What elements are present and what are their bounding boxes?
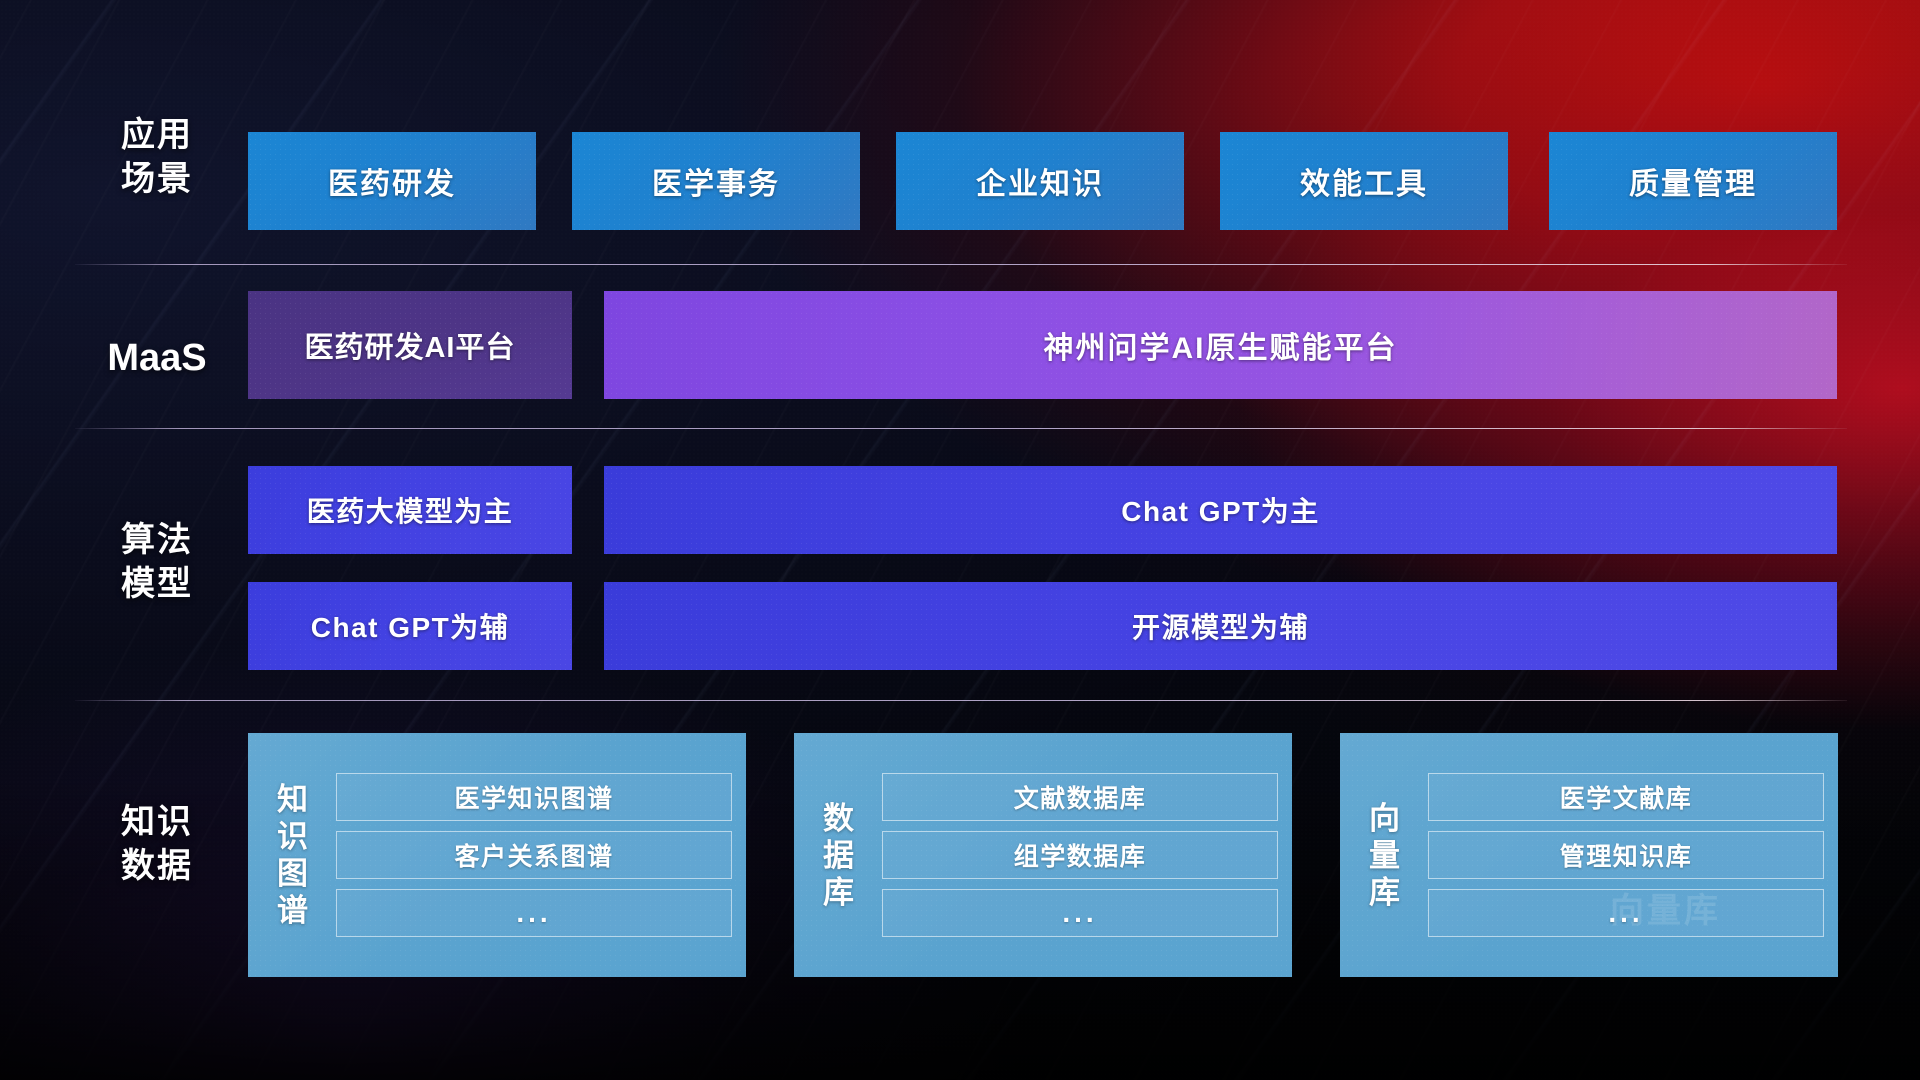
algo-tile-chatgpt-primary[interactable]: Chat GPT为主 xyxy=(604,466,1837,554)
algo-tile-label: Chat GPT为主 xyxy=(1121,490,1320,530)
knowledge-panel-item-list: 文献数据库 组学数据库 ... xyxy=(882,773,1278,937)
knowledge-panel-item-more[interactable]: ... xyxy=(882,889,1278,937)
algo-tile-label: 医药大模型为主 xyxy=(307,490,514,530)
knowledge-panel-item[interactable]: 管理知识库 xyxy=(1428,831,1824,879)
vlabel-char: 数 xyxy=(810,800,868,837)
vlabel-char: 知 xyxy=(264,781,322,818)
vlabel-char: 库 xyxy=(810,874,868,911)
scenario-tile-drug-rnd[interactable]: 医药研发 xyxy=(248,132,536,230)
architecture-diagram: 应用 场景 医药研发 医学事务 企业知识 效能工具 质量管理 MaaS 医药研发… xyxy=(0,0,1920,1080)
scenario-tile-label: 效能工具 xyxy=(1300,159,1428,203)
knowledge-panel-vertical-label: 向 量 库 xyxy=(1356,800,1414,911)
algo-tile-chatgpt-secondary[interactable]: Chat GPT为辅 xyxy=(248,582,572,670)
knowledge-panel-item[interactable]: 文献数据库 xyxy=(882,773,1278,821)
scenario-tile-quality-management[interactable]: 质量管理 xyxy=(1549,132,1837,230)
scenario-tile-label: 企业知识 xyxy=(976,159,1104,203)
knowledge-panel-item[interactable]: 组学数据库 xyxy=(882,831,1278,879)
knowledge-panel-item-more[interactable]: ... xyxy=(1428,889,1824,937)
row-label-application-scenarios: 应用 场景 xyxy=(72,113,242,201)
knowledge-panel-knowledge-graph[interactable]: 知 识 图 谱 医学知识图谱 客户关系图谱 ... xyxy=(248,733,746,977)
maas-tile-label: 医药研发AI平台 xyxy=(304,324,515,366)
scenario-tile-efficiency-tools[interactable]: 效能工具 xyxy=(1220,132,1508,230)
vlabel-char: 谱 xyxy=(264,892,322,929)
divider-after-scenarios xyxy=(75,264,1847,265)
knowledge-panel-item[interactable]: 医学知识图谱 xyxy=(336,773,732,821)
maas-platform-drug-rnd[interactable]: 医药研发AI平台 xyxy=(248,291,572,399)
knowledge-panel-item[interactable]: 医学文献库 xyxy=(1428,773,1824,821)
knowledge-panel-item[interactable]: 客户关系图谱 xyxy=(336,831,732,879)
row-label-algorithm-model: 算法 模型 xyxy=(72,518,242,606)
scenario-tile-label: 质量管理 xyxy=(1629,159,1757,203)
scenario-tile-label: 医药研发 xyxy=(328,159,456,203)
scenario-tile-label: 医学事务 xyxy=(652,159,780,203)
knowledge-panel-item-more[interactable]: ... xyxy=(336,889,732,937)
knowledge-panel-database[interactable]: 数 据 库 文献数据库 组学数据库 ... xyxy=(794,733,1292,977)
algo-tile-label: Chat GPT为辅 xyxy=(311,606,510,646)
knowledge-panel-item-list: 医学文献库 管理知识库 ... xyxy=(1428,773,1824,937)
vlabel-char: 量 xyxy=(1356,837,1414,874)
row-label-maas: MaaS xyxy=(72,336,242,380)
vlabel-char: 库 xyxy=(1356,874,1414,911)
knowledge-panel-vertical-label: 知 识 图 谱 xyxy=(264,781,322,929)
vlabel-char: 识 xyxy=(264,818,322,855)
scenario-tile-enterprise-knowledge[interactable]: 企业知识 xyxy=(896,132,1184,230)
slide-stage: 应用 场景 医药研发 医学事务 企业知识 效能工具 质量管理 MaaS 医药研发… xyxy=(0,0,1920,1080)
knowledge-panel-vector-store[interactable]: 向 量 库 医学文献库 管理知识库 ... 向量库 xyxy=(1340,733,1838,977)
maas-platform-shenzhou-wenxue[interactable]: 神州问学AI原生赋能平台 xyxy=(604,291,1837,399)
knowledge-panel-vertical-label: 数 据 库 xyxy=(810,800,868,911)
maas-tile-label: 神州问学AI原生赋能平台 xyxy=(1044,323,1398,367)
knowledge-panel-item-list: 医学知识图谱 客户关系图谱 ... xyxy=(336,773,732,937)
vlabel-char: 据 xyxy=(810,837,868,874)
divider-after-algorithm xyxy=(75,700,1847,701)
algo-tile-pharma-llm-primary[interactable]: 医药大模型为主 xyxy=(248,466,572,554)
vlabel-char: 图 xyxy=(264,855,322,892)
scenario-tile-medical-affairs[interactable]: 医学事务 xyxy=(572,132,860,230)
divider-after-maas xyxy=(75,428,1847,429)
algo-tile-opensource-secondary[interactable]: 开源模型为辅 xyxy=(604,582,1837,670)
vlabel-char: 向 xyxy=(1356,800,1414,837)
algo-tile-label: 开源模型为辅 xyxy=(1132,606,1309,646)
row-label-knowledge-data: 知识 数据 xyxy=(72,800,242,888)
